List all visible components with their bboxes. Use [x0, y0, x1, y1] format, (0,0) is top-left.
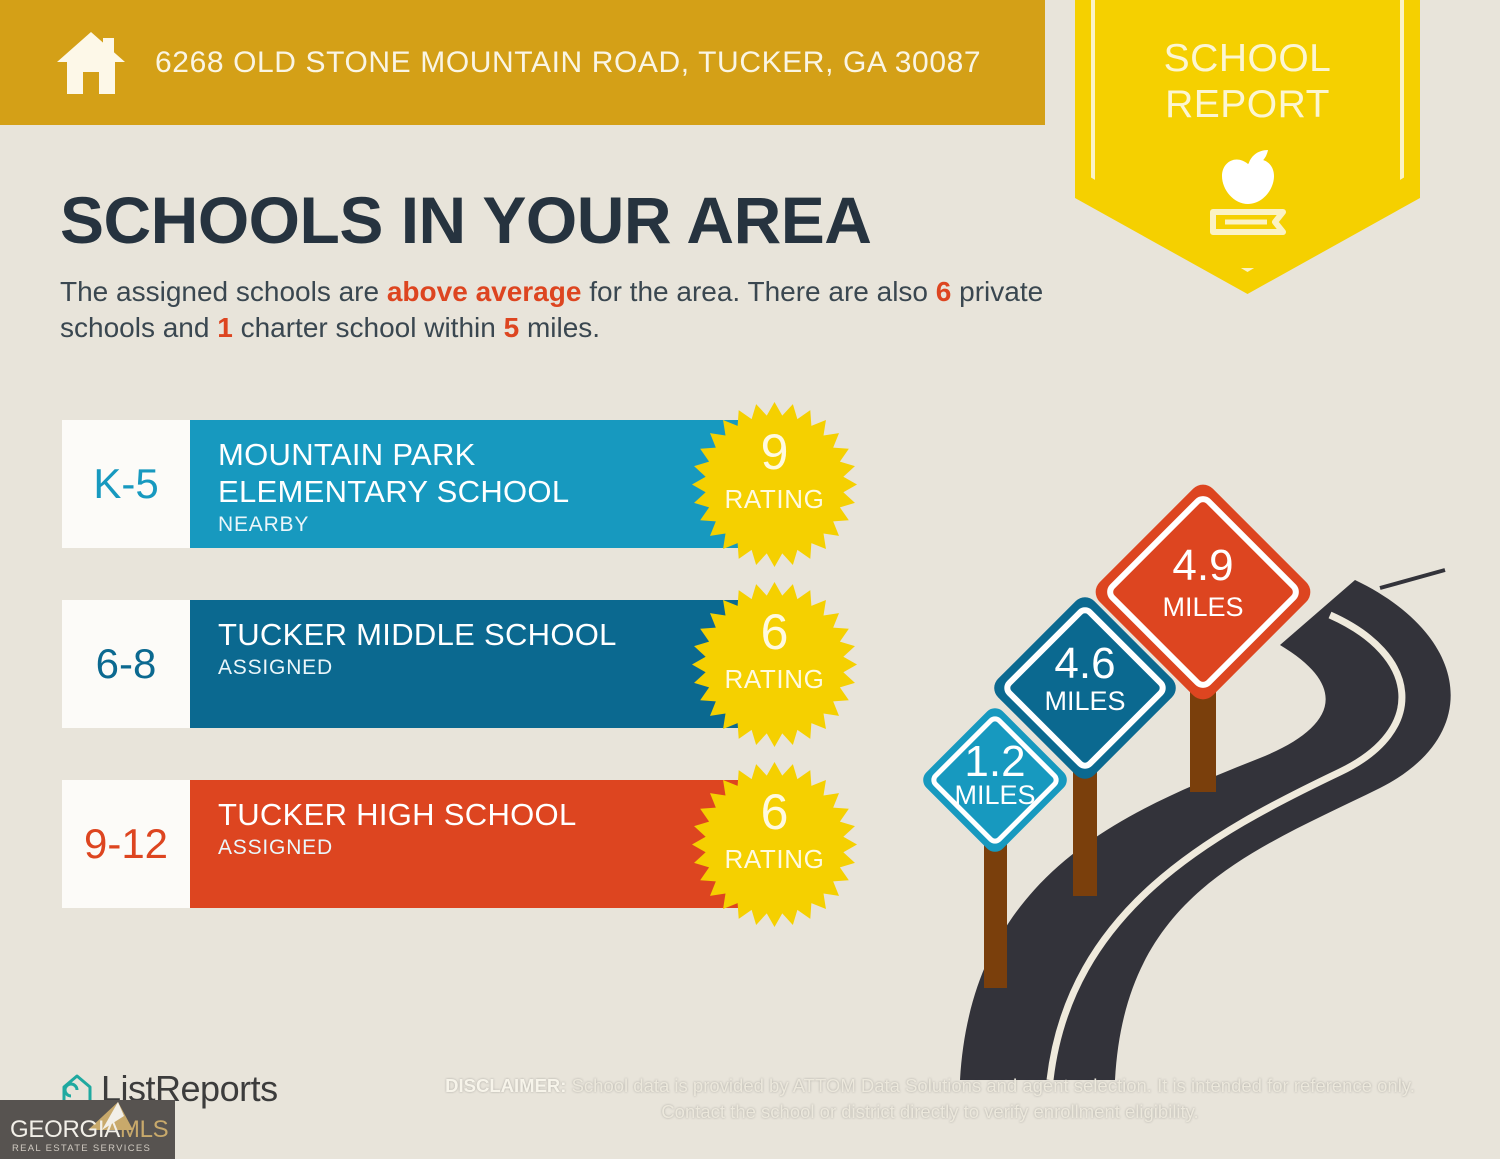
georgia-mls-watermark: GEORGIAMLS REAL ESTATE SERVICES	[0, 1100, 175, 1159]
grade-range-box: 6-8	[62, 600, 190, 728]
school-name-bar: TUCKER HIGH SCHOOL ASSIGNED	[190, 780, 755, 908]
subtitle-highlight-radius: 5	[504, 312, 520, 343]
sign-distance-unit: MILES	[1162, 592, 1243, 622]
disclaimer-text: DISCLAIMER: School data is provided by A…	[430, 1073, 1430, 1125]
page-subtitle: The assigned schools are above average f…	[60, 274, 1050, 346]
badge-title-line2: REPORT	[1165, 83, 1330, 126]
gmls-tagline: REAL ESTATE SERVICES	[12, 1143, 151, 1154]
school-name: MOUNTAIN PARK ELEMENTARY SCHOOL	[218, 436, 648, 510]
home-icon	[55, 30, 127, 96]
badge-title-line1: SCHOOL	[1164, 37, 1332, 80]
disclaimer-body: School data is provided by ATTOM Data So…	[566, 1075, 1414, 1122]
school-name: TUCKER MIDDLE SCHOOL	[218, 616, 648, 653]
rating-label: RATING	[692, 844, 857, 875]
school-report-badge: SCHOOL REPORT	[1075, 0, 1420, 294]
grade-range-label: K-5	[93, 460, 158, 508]
page-title: SCHOOLS IN YOUR AREA	[60, 182, 871, 258]
sign-distance-unit: MILES	[954, 780, 1035, 810]
grade-range-box: K-5	[62, 420, 190, 548]
gmls-name-part1: GEORGIA	[10, 1116, 120, 1143]
school-status: ASSIGNED	[218, 656, 755, 680]
subtitle-highlight-rating: above average	[387, 276, 582, 307]
grade-range-label: 6-8	[96, 640, 157, 688]
header-bar: 6268 OLD STONE MOUNTAIN ROAD, TUCKER, GA…	[0, 0, 1045, 125]
subtitle-part2: for the area. There are also	[581, 276, 935, 307]
rating-value: 6	[692, 606, 857, 658]
rating-label: RATING	[692, 664, 857, 695]
rating-label: RATING	[692, 484, 857, 515]
subtitle-part4: charter school within	[233, 312, 504, 343]
school-status: ASSIGNED	[218, 836, 755, 860]
sign-distance-value: 4.9	[1172, 541, 1233, 590]
subtitle-highlight-charter-count: 1	[217, 312, 233, 343]
subtitle-part5: miles.	[519, 312, 600, 343]
school-report-infographic: 6268 OLD STONE MOUNTAIN ROAD, TUCKER, GA…	[0, 0, 1500, 1159]
subtitle-part1: The assigned schools are	[60, 276, 387, 307]
rating-value: 6	[692, 786, 857, 838]
school-name: TUCKER HIGH SCHOOL	[218, 796, 648, 833]
property-address: 6268 OLD STONE MOUNTAIN ROAD, TUCKER, GA…	[155, 46, 981, 80]
gmls-name-part2: MLS	[120, 1116, 168, 1143]
sign-distance-value: 1.2	[964, 737, 1025, 786]
disclaimer-label: DISCLAIMER:	[445, 1075, 566, 1096]
rating-starburst-badge: 6 RATING	[692, 762, 857, 927]
sign-distance-value: 4.6	[1054, 639, 1115, 688]
apple-and-book-icon	[1183, 142, 1313, 240]
school-status: NEARBY	[218, 513, 755, 537]
road-signs-illustration: 4.9 MILES 4.6 MILES 1.2 MILES	[900, 440, 1500, 1080]
grade-range-box: 9-12	[62, 780, 190, 908]
school-name-bar: TUCKER MIDDLE SCHOOL ASSIGNED	[190, 600, 755, 728]
subtitle-highlight-private-count: 6	[936, 276, 952, 307]
rating-value: 9	[692, 426, 857, 478]
rating-starburst-badge: 9 RATING	[692, 402, 857, 567]
rating-starburst-badge: 6 RATING	[692, 582, 857, 747]
school-name-bar: MOUNTAIN PARK ELEMENTARY SCHOOL NEARBY	[190, 420, 755, 548]
grade-range-label: 9-12	[84, 820, 168, 868]
sign-distance-unit: MILES	[1044, 686, 1125, 716]
